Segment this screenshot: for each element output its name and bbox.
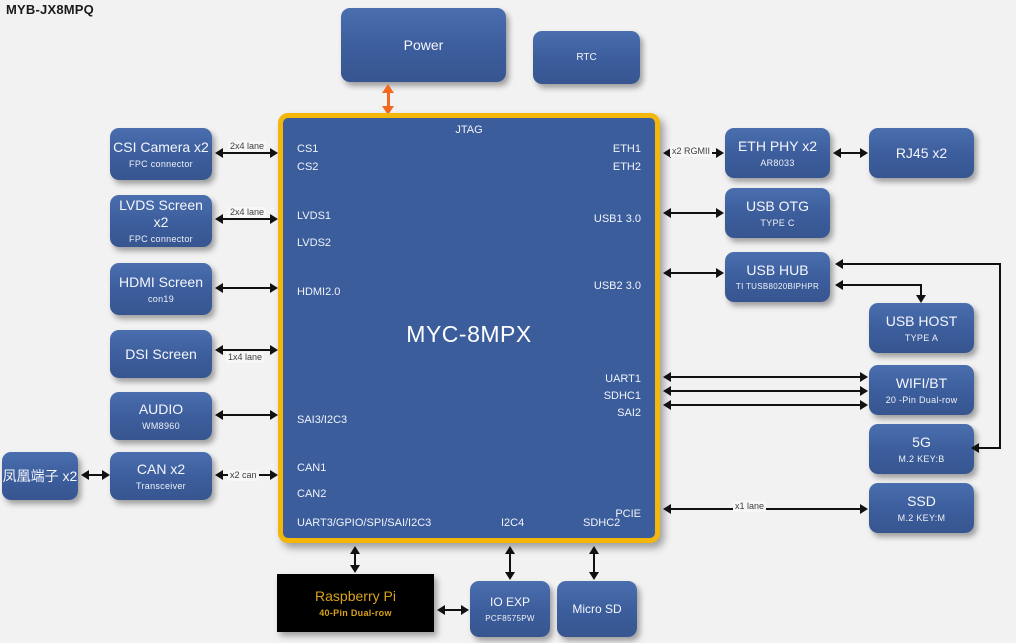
pcie-arrow-right-head xyxy=(860,504,868,514)
soc-pin-usb2: USB2 3.0 xyxy=(594,280,641,293)
lvds-arrow-line xyxy=(223,218,271,220)
eth-link-label: x2 RGMII xyxy=(670,146,712,157)
sdhc1-arrow-line xyxy=(671,390,861,392)
csi-arrow-line xyxy=(223,152,271,154)
block-ssd[interactable]: SSD M.2 KEY:M xyxy=(869,483,974,533)
csi-link-label: 2x4 lane xyxy=(228,141,266,152)
csi-arrow-right-head xyxy=(270,148,278,158)
block-can-sub: Transceiver xyxy=(136,480,186,492)
soc-pin-lvds2: LVDS2 xyxy=(297,237,331,250)
soc-pin-eth2: ETH2 xyxy=(613,161,641,174)
audio-arrow-left-head xyxy=(215,410,223,420)
soc-pin-can1: CAN1 xyxy=(297,462,326,475)
audio-arrow-line xyxy=(223,414,271,416)
block-rj45-label: RJ45 x2 xyxy=(896,145,947,162)
block-wifi-bt[interactable]: WIFI/BT 20 -Pin Dual-row xyxy=(869,365,974,415)
hdmi-arrow-left-head xyxy=(215,283,223,293)
sdhc1-arrow-left-head xyxy=(663,386,671,396)
block-usb-hub[interactable]: USB HUB TI TUSB8020BIPHPR xyxy=(725,252,830,302)
block-can[interactable]: CAN x2 Transceiver xyxy=(110,452,212,500)
can-arrow-left-head xyxy=(215,470,223,480)
block-can-label: CAN x2 xyxy=(137,461,185,478)
soc-pin-i2c4: I2C4 xyxy=(501,517,524,530)
hub-5g-arrow-head-5g xyxy=(971,443,979,453)
block-rtc-label: RTC xyxy=(576,49,596,66)
usbotg-arrow-line xyxy=(671,212,717,214)
usbhub-arrow-line xyxy=(671,272,717,274)
block-hdmi-screen-label: HDMI Screen xyxy=(119,274,203,291)
block-dsi-screen[interactable]: DSI Screen xyxy=(110,330,212,378)
block-phoenix-terminal[interactable]: 凤凰端子 x2 xyxy=(2,452,78,500)
soc-pin-cs1: CS1 xyxy=(297,143,318,156)
soc-pin-can2: CAN2 xyxy=(297,488,326,501)
phoenix-arrow-left-head xyxy=(81,470,89,480)
block-csi-camera-sub: FPC connector xyxy=(129,158,193,170)
block-audio-label: AUDIO xyxy=(139,401,183,418)
block-io-exp-label: IO EXP xyxy=(490,594,530,611)
phoenix-arrow-right-head xyxy=(102,470,110,480)
block-dsi-screen-label: DSI Screen xyxy=(125,346,197,363)
pcie-link-label: x1 lane xyxy=(733,501,766,512)
hub-5g-line-v xyxy=(999,263,1001,449)
block-rtc[interactable]: RTC xyxy=(533,31,640,84)
block-csi-camera[interactable]: CSI Camera x2 FPC connector xyxy=(110,128,212,180)
block-usb-host-sub: TYPE A xyxy=(905,332,938,344)
block-eth-phy-label: ETH PHY x2 xyxy=(738,138,817,155)
lvds-arrow-right-head xyxy=(270,214,278,224)
soc-pin-uart1: UART1 xyxy=(605,373,641,386)
phoenix-arrow-line xyxy=(89,474,103,476)
block-audio[interactable]: AUDIO WM8960 xyxy=(110,392,212,440)
microsd-arrow-line xyxy=(593,553,595,574)
block-ssd-sub: M.2 KEY:M xyxy=(898,512,946,524)
hdmi-arrow-right-head xyxy=(270,283,278,293)
soc-name-label: MYC-8MPX xyxy=(283,321,655,348)
soc-pin-jtag: JTAG xyxy=(283,124,655,137)
soc-pin-sdhc1: SDHC1 xyxy=(604,390,641,403)
soc-pin-eth1: ETH1 xyxy=(613,143,641,156)
sai2-arrow-right-head xyxy=(860,400,868,410)
lvds-link-label: 2x4 lane xyxy=(228,207,266,218)
can-arrow-right-head xyxy=(270,470,278,480)
block-usb-otg-label: USB OTG xyxy=(746,198,809,215)
soc-pin-sai2: SAI2 xyxy=(617,407,641,420)
block-usb-hub-sub: TI TUSB8020BIPHPR xyxy=(736,281,819,293)
can-link-label: x2 can xyxy=(228,470,259,481)
block-wifi-bt-label: WIFI/BT xyxy=(896,375,947,392)
usbotg-arrow-left-head xyxy=(663,208,671,218)
uart1-arrow-right-head xyxy=(860,372,868,382)
rpi-ioexp-arrow-line xyxy=(445,609,462,611)
diagram-canvas: MYB-JX8MPQ Power RTC JTAG CS1 CS2 LVDS1 … xyxy=(0,0,1016,643)
uart1-arrow-line xyxy=(671,376,861,378)
soc-pin-sai3-i2c3: SAI3/I2C3 xyxy=(297,414,347,427)
usbotg-arrow-right-head xyxy=(716,208,724,218)
block-audio-sub: WM8960 xyxy=(142,420,180,432)
block-rj45[interactable]: RJ45 x2 xyxy=(869,128,974,178)
block-usb-otg[interactable]: USB OTG TYPE C xyxy=(725,188,830,238)
soc-pin-lvds1: LVDS1 xyxy=(297,210,331,223)
rpi-ioexp-arrow-right-head xyxy=(461,605,469,615)
hub-5g-line-h-top xyxy=(843,263,1001,265)
block-csi-camera-label: CSI Camera x2 xyxy=(113,139,209,156)
block-eth-phy-sub: AR8033 xyxy=(760,157,794,169)
eth-arrow-right-head xyxy=(716,148,724,158)
block-power-label: Power xyxy=(404,37,444,54)
pcie-arrow-left-head xyxy=(663,504,671,514)
block-5g[interactable]: 5G M.2 KEY:B xyxy=(869,424,974,474)
hub-host-line-h xyxy=(843,284,922,286)
usbhub-arrow-left-head xyxy=(663,268,671,278)
csi-arrow-left-head xyxy=(215,148,223,158)
soc-pin-cs2: CS2 xyxy=(297,161,318,174)
block-usb-host-label: USB HOST xyxy=(886,313,958,330)
block-raspberry-pi[interactable]: Raspberry Pi 40-Pin Dual-row xyxy=(277,574,434,632)
dsi-arrow-left-head xyxy=(215,345,223,355)
dsi-arrow-line xyxy=(223,349,271,351)
usbhub-arrow-right-head xyxy=(716,268,724,278)
dsi-link-label: 1x4 lane xyxy=(226,352,264,363)
microsd-arrow-down-head xyxy=(589,572,599,580)
block-hdmi-screen[interactable]: HDMI Screen con19 xyxy=(110,263,212,315)
rj45-arrow-left-head xyxy=(833,148,841,158)
block-wifi-bt-sub: 20 -Pin Dual-row xyxy=(886,394,958,406)
block-io-exp[interactable]: IO EXP PCF8575PW xyxy=(470,581,550,637)
hub-5g-line-h-bottom xyxy=(979,447,1001,449)
rpi-arrow-down-head xyxy=(350,565,360,573)
sai2-arrow-line xyxy=(671,404,861,406)
ioexp-arrow-line xyxy=(509,553,511,574)
block-raspberry-pi-label: Raspberry Pi xyxy=(315,588,396,605)
block-5g-label: 5G xyxy=(912,434,931,451)
block-5g-sub: M.2 KEY:B xyxy=(898,453,944,465)
block-usb-hub-label: USB HUB xyxy=(746,262,808,279)
ioexp-arrow-down-head xyxy=(505,572,515,580)
soc-pin-uart3-gpio: UART3/GPIO/SPI/SAI/I2C3 xyxy=(297,517,431,530)
soc-module[interactable]: JTAG CS1 CS2 LVDS1 LVDS2 HDMI2.0 SAI3/I2… xyxy=(278,113,660,543)
block-lvds-screen-label: LVDS Screen x2 xyxy=(110,197,212,231)
soc-pin-usb1: USB1 3.0 xyxy=(594,213,641,226)
block-lvds-screen-sub: FPC connector xyxy=(129,233,193,245)
block-ssd-label: SSD xyxy=(907,493,936,510)
sdhc1-arrow-right-head xyxy=(860,386,868,396)
block-phoenix-terminal-label: 凤凰端子 x2 xyxy=(3,468,78,485)
block-micro-sd[interactable]: Micro SD xyxy=(557,581,637,637)
rj45-arrow-line xyxy=(841,152,861,154)
uart1-arrow-left-head xyxy=(663,372,671,382)
hub-host-arrow-head xyxy=(916,295,926,303)
block-lvds-screen[interactable]: LVDS Screen x2 FPC connector xyxy=(110,195,212,247)
hub-host-arrow-tail-head xyxy=(835,280,843,290)
dsi-arrow-right-head xyxy=(270,345,278,355)
soc-pin-sdhc2: SDHC2 xyxy=(583,517,620,530)
audio-arrow-right-head xyxy=(270,410,278,420)
soc-pin-hdmi: HDMI2.0 xyxy=(297,286,340,299)
block-power[interactable]: Power xyxy=(341,8,506,82)
hub-5g-arrow-head-hub xyxy=(835,259,843,269)
hdmi-arrow-line xyxy=(223,287,271,289)
block-raspberry-pi-sub: 40-Pin Dual-row xyxy=(319,607,392,619)
page-title: MYB-JX8MPQ xyxy=(6,2,94,17)
sai2-arrow-left-head xyxy=(663,400,671,410)
block-usb-host[interactable]: USB HOST TYPE A xyxy=(869,303,974,353)
block-usb-otg-sub: TYPE C xyxy=(760,217,794,229)
block-micro-sd-label: Micro SD xyxy=(572,601,621,618)
lvds-arrow-left-head xyxy=(215,214,223,224)
block-hdmi-screen-sub: con19 xyxy=(148,293,174,305)
rpi-ioexp-arrow-left-head xyxy=(437,605,445,615)
block-eth-phy[interactable]: ETH PHY x2 AR8033 xyxy=(725,128,830,178)
block-io-exp-sub: PCF8575PW xyxy=(485,613,534,625)
rj45-arrow-right-head xyxy=(860,148,868,158)
